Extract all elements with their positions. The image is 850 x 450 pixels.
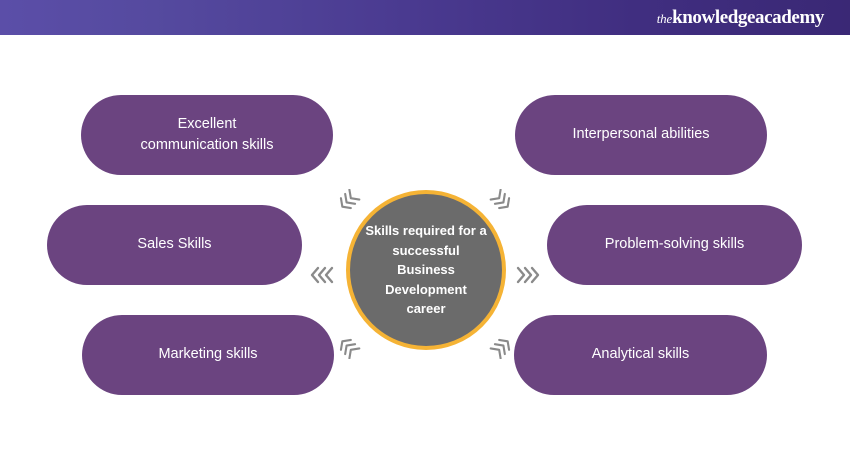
center-hub: Skills required for a successful Busines… [346, 190, 506, 350]
skill-node-label: Interpersonal abilities [572, 124, 709, 145]
logo-main-text: knowledgeacademy [672, 8, 824, 27]
skill-node-label: Excellent communication skills [141, 114, 274, 156]
diagram-stage: Excellent communication skills Sales Ski… [0, 35, 850, 450]
center-hub-label: Skills required for a successful Busines… [350, 221, 502, 319]
brand-logo: theknowledgeacademy [657, 8, 850, 27]
header-bar: theknowledgeacademy [0, 0, 850, 35]
skill-node-interpersonal-abilities[interactable]: Interpersonal abilities [515, 95, 767, 175]
chevron-right-icon [512, 263, 544, 287]
skill-node-marketing-skills[interactable]: Marketing skills [82, 315, 334, 395]
skill-node-problem-solving-skills[interactable]: Problem-solving skills [547, 205, 802, 285]
skill-node-sales-skills[interactable]: Sales Skills [47, 205, 302, 285]
skill-node-label: Analytical skills [592, 344, 690, 365]
skill-node-analytical-skills[interactable]: Analytical skills [514, 315, 767, 395]
skill-node-label: Problem-solving skills [605, 234, 744, 255]
logo-the-text: the [657, 12, 672, 25]
chevron-up-right-icon [488, 189, 516, 213]
skill-node-label: Marketing skills [158, 344, 257, 365]
skill-node-excellent-communication[interactable]: Excellent communication skills [81, 95, 333, 175]
chevron-up-left-icon [334, 189, 362, 213]
skill-node-label: Sales Skills [137, 234, 211, 255]
chevron-left-icon [306, 263, 338, 287]
chevron-down-right-icon [488, 335, 516, 359]
chevron-down-left-icon [334, 335, 362, 359]
